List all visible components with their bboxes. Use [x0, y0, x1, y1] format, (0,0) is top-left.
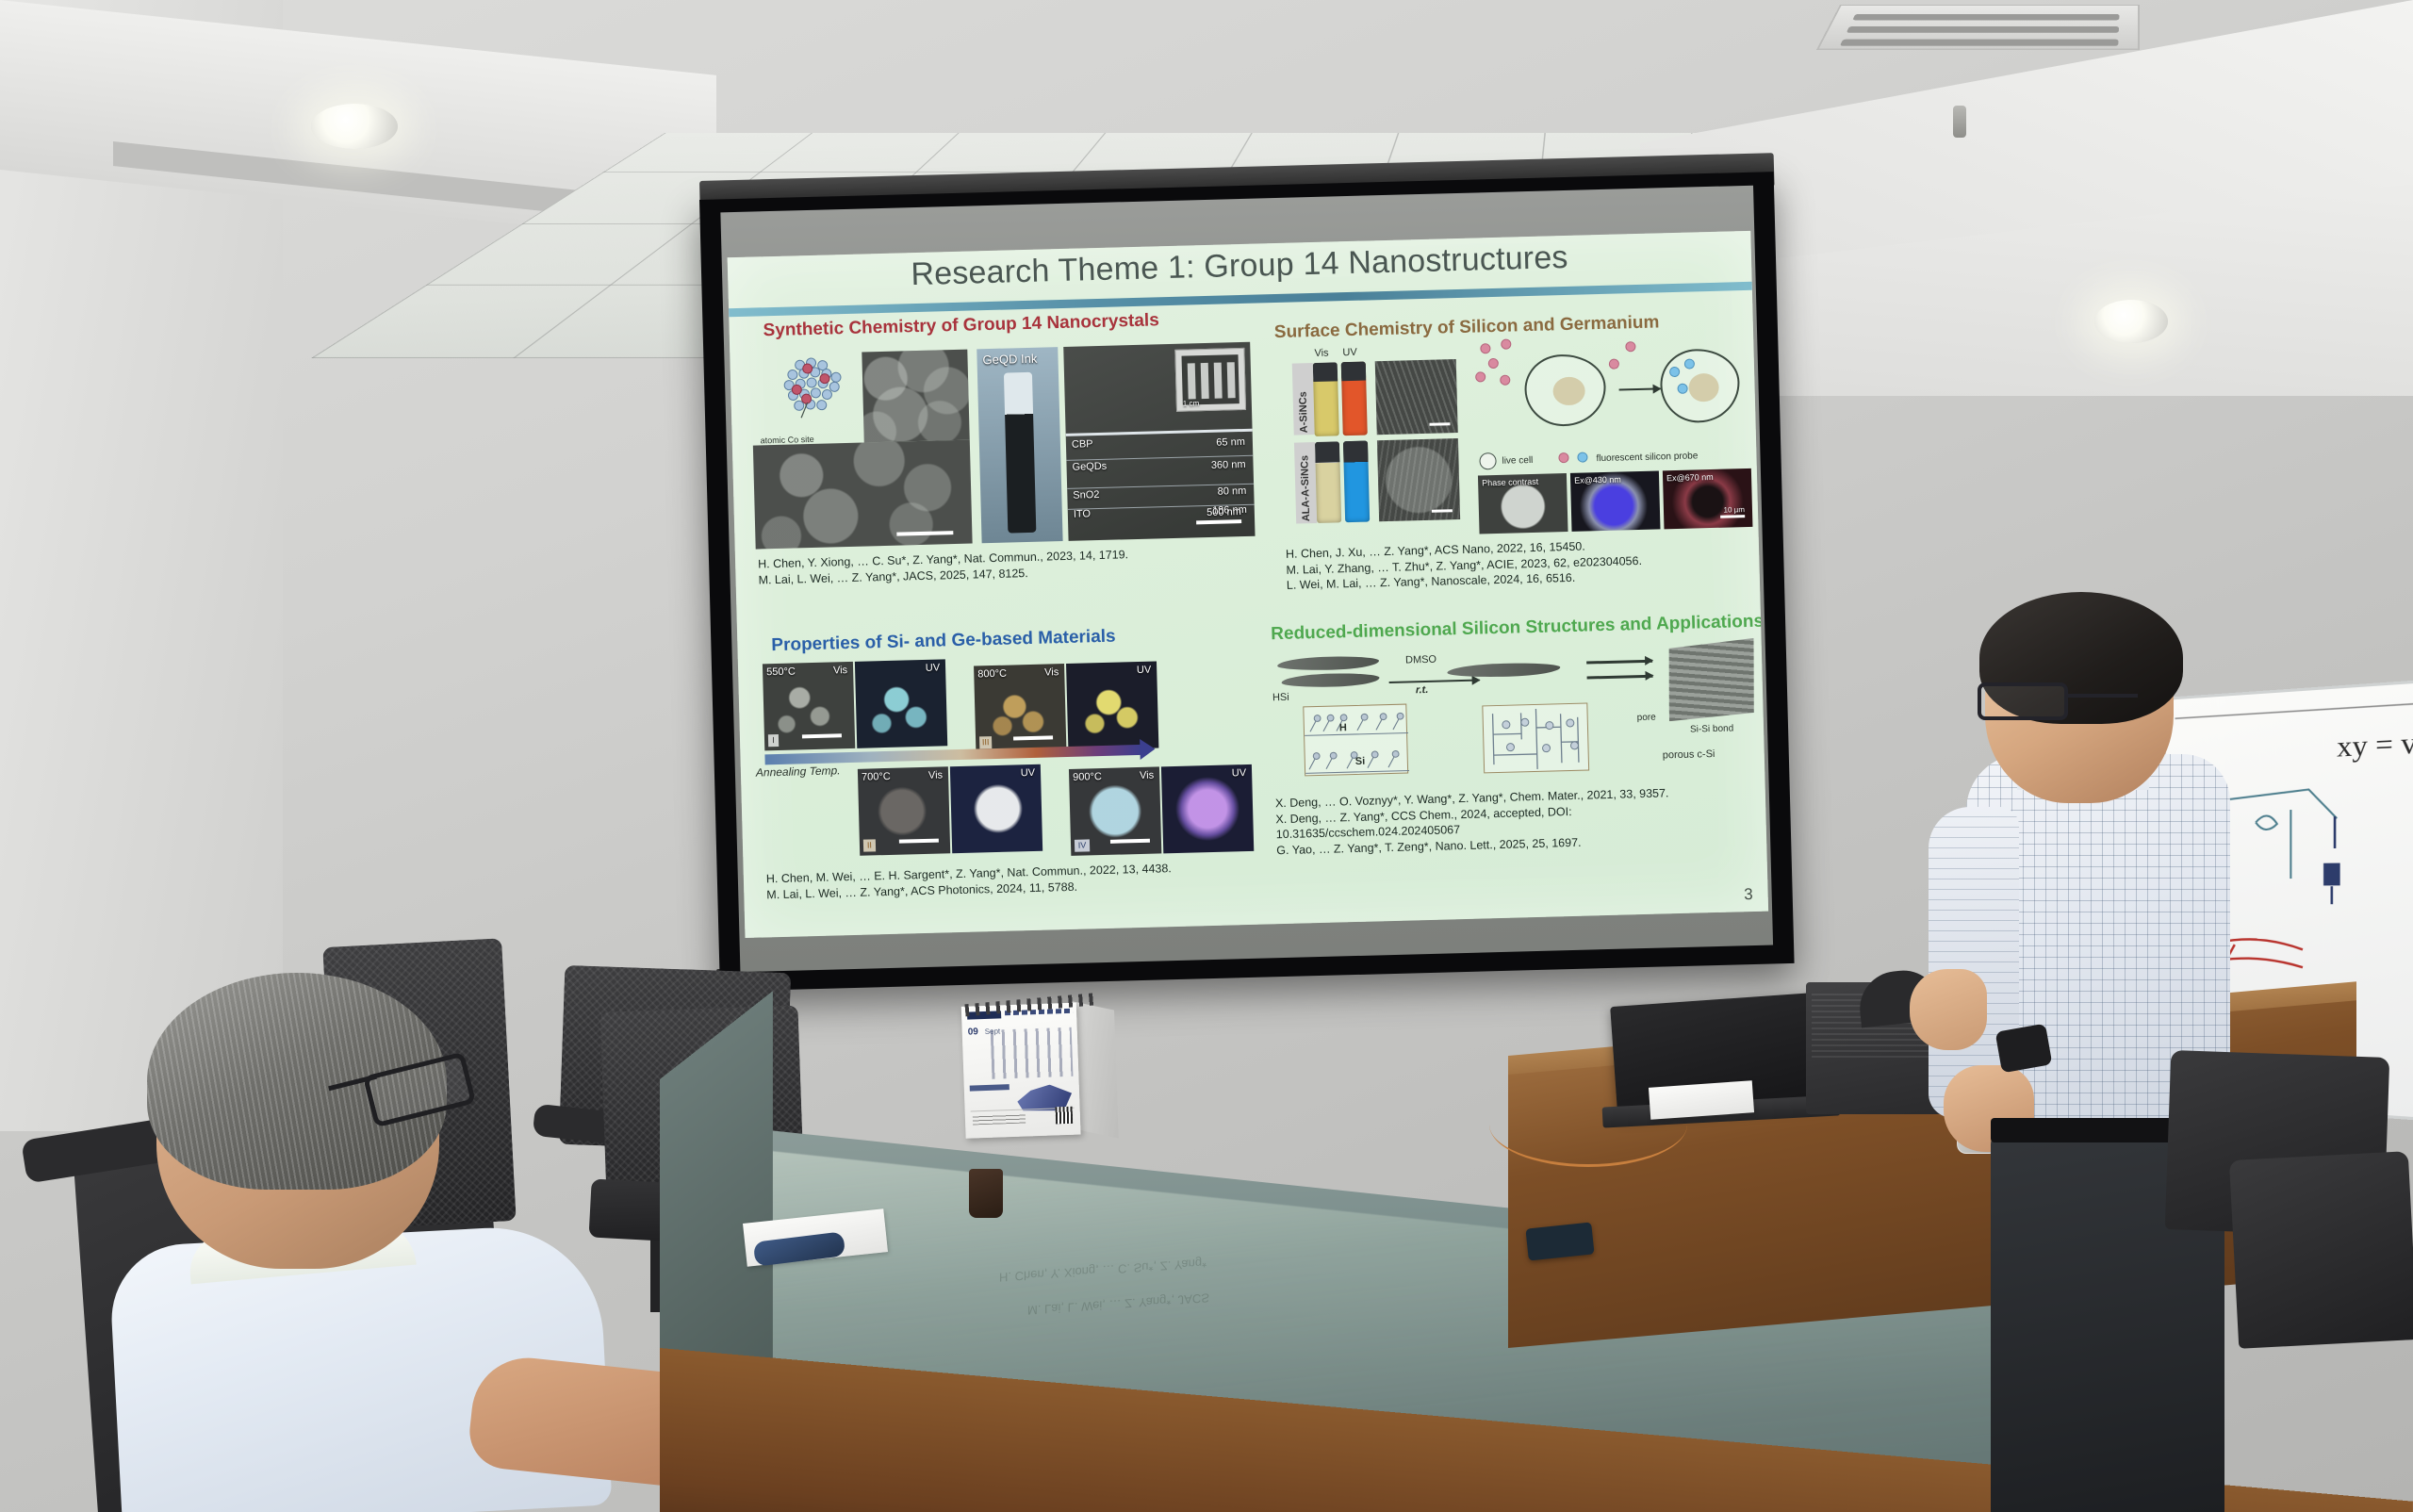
- panel-mode-uv: UV: [1021, 767, 1036, 779]
- calendar-date-grid: [991, 1027, 1074, 1079]
- panel-temp-900c: 900°C: [1073, 771, 1102, 783]
- panel-700c-uv: UV: [950, 764, 1042, 853]
- section-heading-properties: Properties of Si- and Ge-based Materials: [771, 627, 1116, 657]
- scale-bar-10um: 10 µm: [1723, 505, 1745, 515]
- reaction-arrow-second-b: [1587, 675, 1653, 680]
- layer-label-cbp: CBP: [1072, 438, 1093, 451]
- panel-800c-uv: UV: [1066, 661, 1158, 749]
- legend-live-cell-icon: [1479, 452, 1496, 469]
- presentation-slide: Research Theme 1: Group 14 Nanostructure…: [728, 231, 1769, 938]
- office-chair-far-right-2[interactable]: [2229, 1151, 2413, 1349]
- layer-label-sno2: SnO2: [1073, 489, 1099, 501]
- section-heading-reduced-dimensional: Reduced-dimensional Silicon Structures a…: [1271, 612, 1764, 646]
- panel-roman-iv: IV: [1075, 839, 1090, 851]
- hsi-flake-icon: [1277, 655, 1379, 671]
- panel-700c-vis: 700°C Vis II: [858, 766, 950, 855]
- projection-screen: Research Theme 1: Group 14 Nanostructure…: [699, 172, 1795, 992]
- panel-roman-i: I: [768, 734, 779, 747]
- layer-thickness-360nm: 360 nm: [1211, 459, 1246, 471]
- axis-label-annealing-temp: Annealing Temp.: [756, 764, 841, 779]
- references-properties: H. Chen, M. Wei, … E. H. Sargent*, Z. Ya…: [766, 861, 1173, 902]
- panel-900c-vis: 900°C Vis IV: [1069, 766, 1161, 855]
- presenter-glasses: [1978, 682, 2068, 720]
- ceiling-downlight-right: [2094, 300, 2168, 343]
- label-h-atom: H: [1339, 722, 1347, 733]
- references-reduced-dimensional: X. Deng, … O. Voznyy*, Y. Wang*, Z. Yang…: [1275, 785, 1670, 858]
- label-uv-top: UV: [1342, 347, 1357, 358]
- layer-thickness-65nm: 65 nm: [1216, 436, 1245, 449]
- geqd-ink-photo: [977, 347, 1062, 543]
- label-porous-csi: porous c-Si: [1663, 748, 1715, 761]
- panel-mode-vis: Vis: [928, 769, 943, 781]
- nanocrystal-model-figure: [771, 353, 860, 434]
- porous-csi-illustration: [1667, 638, 1756, 721]
- panel-mode-uv: UV: [926, 662, 941, 673]
- legend-probe-blue-icon: [1577, 452, 1587, 462]
- reaction-arrow: [1619, 387, 1661, 390]
- power-cable: [1489, 1082, 1687, 1167]
- panel-temp-800c: 800°C: [977, 668, 1007, 681]
- presenter-glasses-temple: [2064, 694, 2138, 698]
- air-vent: [1816, 5, 2140, 50]
- panel-900c-uv: UV: [1161, 764, 1254, 853]
- micrograph-phase-contrast: Phase contrast: [1478, 473, 1568, 534]
- layer-label-ito: ITO: [1074, 508, 1091, 519]
- panel-roman-iii: III: [979, 736, 992, 748]
- panel-mode-vis: Vis: [833, 665, 847, 676]
- references-synthetic-chemistry: H. Chen, Y. Xiong, … C. Su*, Z. Yang*, N…: [758, 547, 1129, 587]
- micrograph-ex670: Ex@670 nm 10 µm: [1663, 468, 1753, 529]
- legend-probe-pink-icon: [1558, 452, 1568, 463]
- phone-on-table[interactable]: [1525, 1222, 1594, 1260]
- label-si-si-bond: Si-Si bond: [1690, 723, 1733, 734]
- scale-bar-1cm: 1 cm: [1183, 399, 1200, 407]
- label-vis-top: Vis: [1314, 348, 1328, 359]
- cell-uptake-schematic: [1474, 333, 1741, 445]
- calendar-front-page: 09 Sept: [961, 1003, 1081, 1139]
- section-heading-synthetic-chemistry: Synthetic Chemistry of Group 14 Nanocrys…: [763, 310, 1159, 341]
- panel-mode-uv: UV: [1232, 767, 1247, 779]
- label-dmso: DMSO: [1405, 654, 1436, 666]
- label-ala-a-sincs: ALA-A-SiNCs: [1294, 442, 1317, 524]
- panel-800c-vis: 800°C Vis III: [974, 664, 1066, 752]
- vial-ala-a-sincs-uv: [1343, 441, 1370, 523]
- panel-550c-vis: 550°C Vis I: [763, 662, 855, 750]
- panel-550c-uv: UV: [855, 659, 947, 748]
- panel-temp-700c: 700°C: [862, 771, 891, 783]
- slide-page-number: 3: [1744, 885, 1753, 904]
- reaction-arrow-second-a: [1586, 660, 1652, 665]
- device-cross-section-sem: CBP GeQDs SnO2 ITO 65 nm 360 nm 80 nm 18…: [1063, 342, 1255, 541]
- legend-probe-label: fluorescent silicon probe: [1596, 451, 1698, 464]
- porous-network-diagram: [1482, 703, 1589, 774]
- vial-ala-a-sincs-vis: [1315, 441, 1341, 523]
- hrtem-a-sincs: [1375, 359, 1458, 435]
- calendar-qr-code: [1056, 1107, 1074, 1125]
- hrtem-ala-a-sincs: [1377, 438, 1460, 521]
- panel-mode-vis: Vis: [1140, 770, 1154, 781]
- label-phase-contrast: Phase contrast: [1482, 477, 1538, 488]
- presenter-hand-left: [1910, 969, 1987, 1050]
- hsi-flake-icon-2: [1281, 672, 1379, 688]
- coffee-cup[interactable]: [969, 1169, 1003, 1218]
- tem-micrograph-upper: [862, 350, 969, 443]
- vial-a-sincs-vis: [1313, 362, 1339, 436]
- label-ex670: Ex@670 nm: [1666, 472, 1714, 483]
- label-pore: pore: [1637, 713, 1656, 724]
- panel-roman-ii: II: [863, 839, 876, 851]
- references-surface-chemistry: H. Chen, J. Xu, … Z. Yang*, ACS Nano, 20…: [1286, 537, 1643, 593]
- tem-micrograph-lower: [753, 440, 973, 550]
- label-geqd-ink: GeQD Ink: [982, 352, 1037, 368]
- calendar-month-number: 09: [968, 1027, 979, 1037]
- legend-live-cell-label: live cell: [1502, 455, 1533, 467]
- vial-a-sincs-uv: [1341, 362, 1368, 436]
- reaction-arrow-dmso: [1389, 680, 1480, 684]
- label-si-atom: Si: [1355, 756, 1366, 767]
- presenter-wristwatch: [1995, 1024, 2053, 1074]
- intermediate-flake-icon: [1447, 662, 1560, 678]
- panel-temp-550c: 550°C: [766, 666, 796, 679]
- micrograph-ex430: Ex@430 nm: [1570, 470, 1661, 531]
- scale-bar-500nm: 500 nm: [1206, 506, 1241, 518]
- label-ex430: Ex@430 nm: [1574, 475, 1621, 485]
- layer-label-geqds: GeQDs: [1072, 461, 1107, 473]
- conference-room-scene: Research Theme 1: Group 14 Nanostructure…: [0, 0, 2413, 1512]
- desk-calendar[interactable]: 09 Sept: [960, 992, 1116, 1138]
- sprinkler-head: [1953, 106, 1966, 138]
- ceiling-downlight-left: [311, 104, 398, 149]
- layer-thickness-80nm: 80 nm: [1218, 485, 1247, 498]
- panel-mode-uv: UV: [1137, 665, 1152, 676]
- label-rt: r.t.: [1416, 684, 1429, 696]
- label-hsi: HSi: [1272, 692, 1289, 703]
- label-a-sincs: A-SiNCs: [1292, 363, 1315, 436]
- panel-mode-vis: Vis: [1044, 666, 1059, 678]
